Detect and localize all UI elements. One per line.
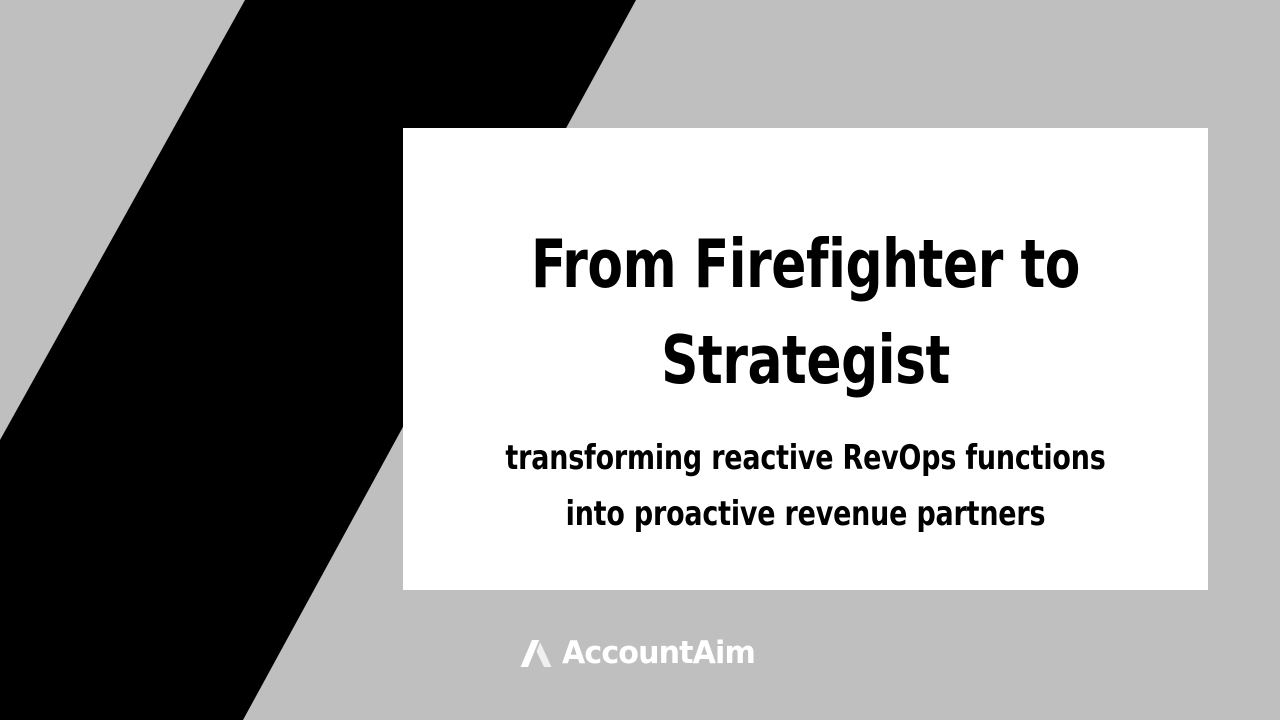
- title-block: From Firefighter to Strategist: [403, 216, 1208, 408]
- subtitle-block: transforming reactive RevOps functions i…: [403, 430, 1208, 542]
- mountain-a-logo-icon: [519, 640, 553, 667]
- brand-wordmark: AccountAim: [562, 638, 755, 669]
- brand-lockup: AccountAim: [0, 638, 1280, 669]
- slide-stage: From Firefighter to Strategist transform…: [0, 0, 1280, 720]
- slide-subtitle: transforming reactive RevOps functions i…: [451, 430, 1159, 542]
- logo-left-stroke: [521, 640, 540, 667]
- content-card: From Firefighter to Strategist transform…: [403, 128, 1208, 590]
- slide-title: From Firefighter to Strategist: [459, 216, 1151, 408]
